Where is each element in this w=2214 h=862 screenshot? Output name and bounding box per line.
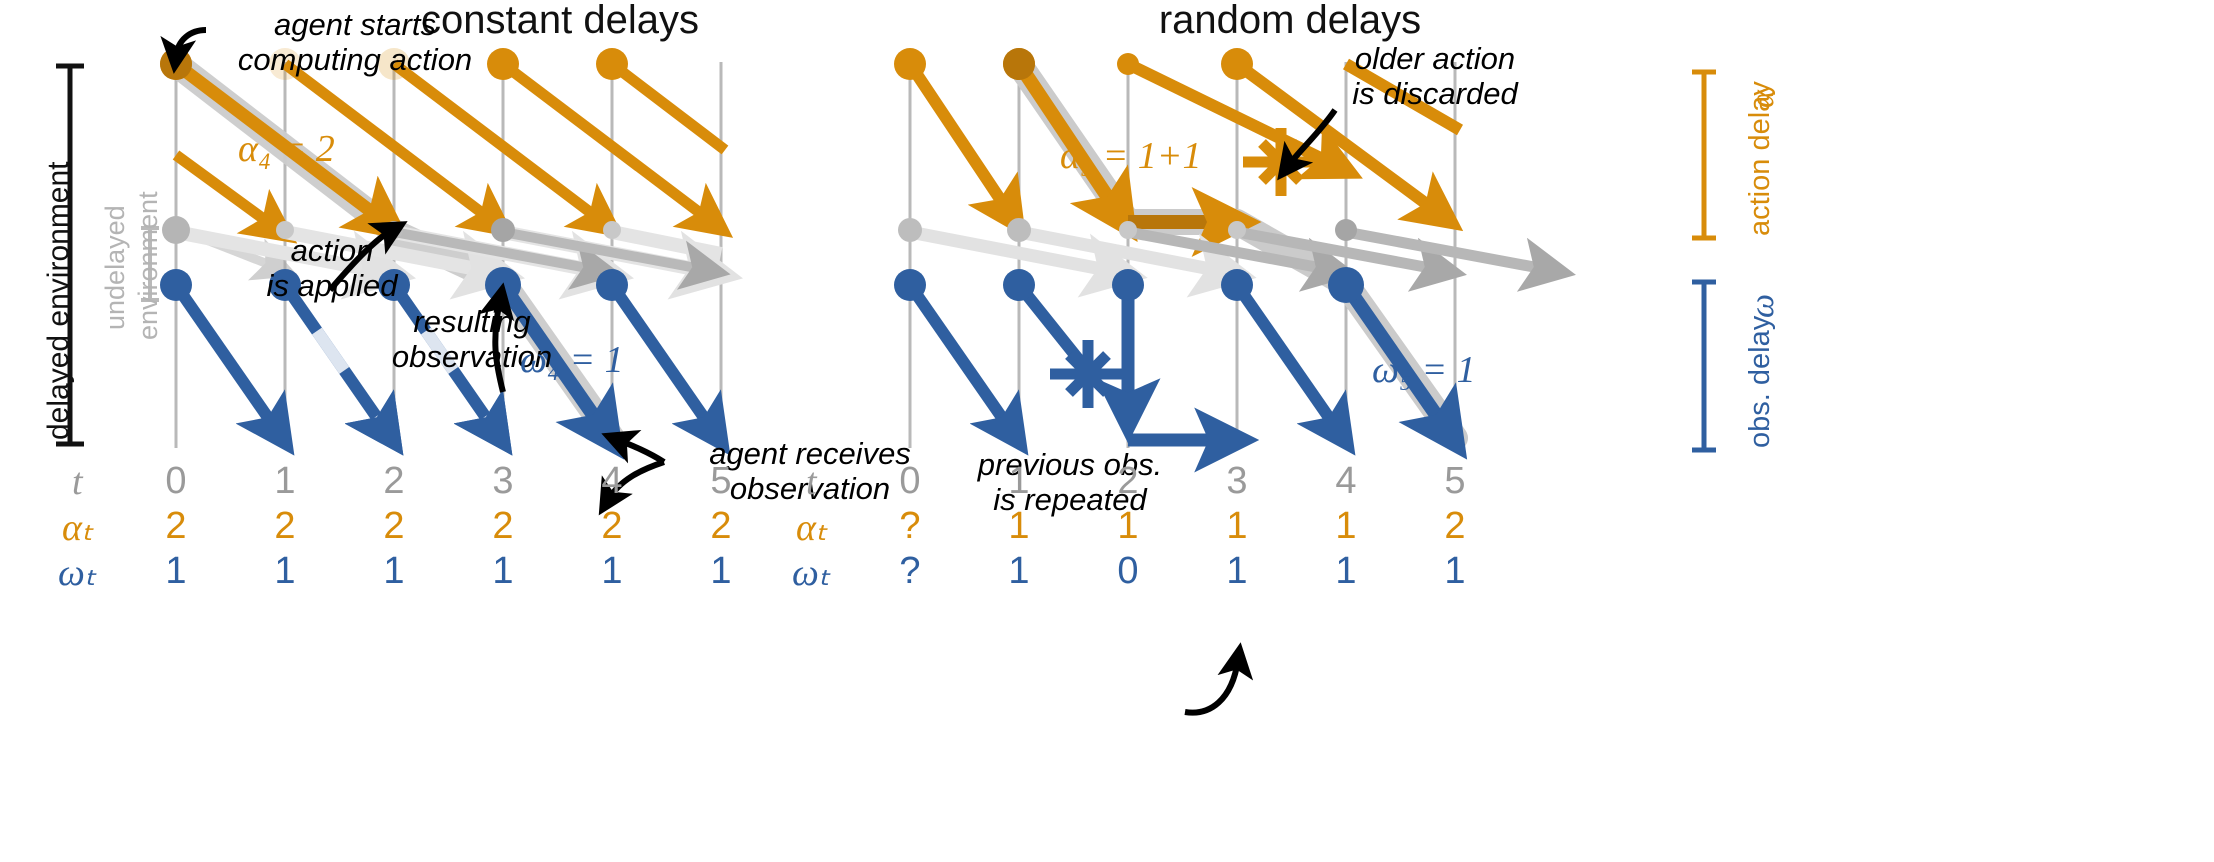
bracket-action-delay: [1692, 72, 1716, 238]
note-action-applied: action is applied: [222, 234, 442, 303]
panel-title-right: random delays: [1060, 0, 1520, 43]
left-cell-t-1: 1: [249, 460, 321, 503]
left-cell-alpha-0: 2: [140, 505, 212, 548]
left-cell-t-2: 2: [358, 460, 430, 503]
right-cell-t-1: 1: [983, 460, 1055, 503]
right-cell-alpha-1: 1: [983, 505, 1055, 548]
right-cell-alpha-2: 1: [1092, 505, 1164, 548]
left-cell-alpha-2: 2: [358, 505, 430, 548]
right-cell-omega-2: 0: [1092, 550, 1164, 593]
right-cell-omega-5: 1: [1419, 550, 1491, 593]
discard-asterisk-orange: [1243, 128, 1319, 196]
right-cell-alpha-5: 2: [1419, 505, 1491, 548]
right-cell-alpha-3: 1: [1201, 505, 1273, 548]
side-label-delayed-environment: delayed environment: [42, 161, 76, 440]
right-cell-omega-0: ?: [874, 550, 946, 593]
row-label-omega-left: ωₜ: [58, 550, 96, 595]
row-label-alpha-right: αₜ: [796, 505, 827, 550]
note-agent-starts: agent starts computing action: [190, 8, 520, 77]
side-label-environment: environment: [133, 191, 164, 340]
label-alpha4: α₄ = 2: [238, 127, 335, 171]
right-cell-t-4: 4: [1310, 460, 1382, 503]
side-label-alpha-symbol: α: [1744, 90, 1782, 108]
note-older-action: older action is discarded: [1300, 42, 1570, 111]
right-cell-alpha-4: 1: [1310, 505, 1382, 548]
right-obs-arrows: [910, 285, 1448, 440]
label-omega5: ω₅ = 1: [1372, 348, 1476, 392]
left-cell-alpha-5: 2: [685, 505, 757, 548]
right-highlight-dot: [1003, 48, 1035, 80]
left-cell-t-3: 3: [467, 460, 539, 503]
right-callout-arrows: [1185, 110, 1335, 713]
left-cell-alpha-4: 2: [576, 505, 648, 548]
right-cell-t-5: 5: [1419, 460, 1491, 503]
left-cell-t-4: 4: [576, 460, 648, 503]
left-cell-omega-3: 1: [467, 550, 539, 593]
right-cell-t-2: 2: [1092, 460, 1164, 503]
row-label-t-left: t: [72, 460, 83, 504]
label-alpha5: α₅ = 1+1: [1060, 134, 1201, 178]
left-cell-omega-4: 1: [576, 550, 648, 593]
bracket-obs-delay: [1692, 282, 1716, 450]
row-label-alpha-left: αₜ: [62, 505, 93, 550]
right-agent-dots: [894, 48, 1253, 80]
row-label-omega-right: ωₜ: [792, 550, 830, 595]
left-cell-omega-5: 1: [685, 550, 757, 593]
right-cell-alpha-0: ?: [874, 505, 946, 548]
right-panel-graphics: [894, 48, 1716, 713]
left-cell-alpha-3: 2: [467, 505, 539, 548]
left-cell-omega-1: 1: [249, 550, 321, 593]
diagram-root: constant delays random delays agent star…: [0, 0, 2214, 862]
left-cell-omega-0: 1: [140, 550, 212, 593]
side-label-undelayed: undelayed: [100, 205, 131, 330]
left-cell-t-0: 0: [140, 460, 212, 503]
side-label-obs-delay: obs. delay: [1744, 316, 1777, 448]
right-cell-omega-1: 1: [983, 550, 1055, 593]
discard-asterisk-blue: [1050, 340, 1126, 408]
right-cell-t-3: 3: [1201, 460, 1273, 503]
row-label-t-right: t: [806, 460, 817, 504]
right-cell-t-0: 0: [874, 460, 946, 503]
right-obs-dots: [894, 267, 1364, 303]
left-cell-omega-2: 1: [358, 550, 430, 593]
left-cell-alpha-1: 2: [249, 505, 321, 548]
right-cell-omega-3: 1: [1201, 550, 1273, 593]
label-omega4: ω₄ = 1: [520, 338, 624, 382]
right-cell-omega-4: 1: [1310, 550, 1382, 593]
left-cell-t-5: 5: [685, 460, 757, 503]
side-label-omega-symbol: ω: [1744, 294, 1782, 318]
